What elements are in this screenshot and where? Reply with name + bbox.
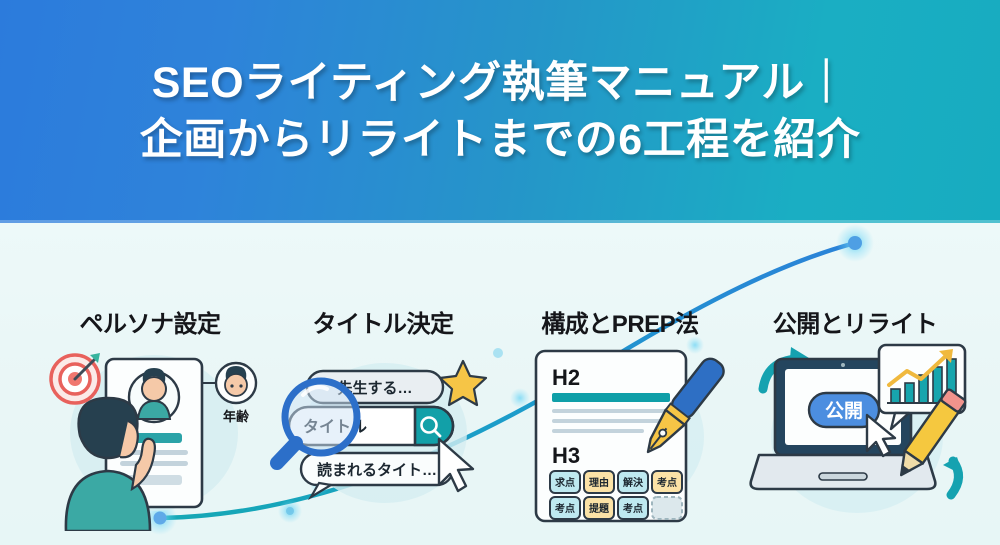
tag-2-4-empty: [652, 497, 682, 519]
step-title[interactable]: タイトル決定 先生する…: [263, 223, 503, 545]
step-structure-label: 構成とPREP法: [500, 304, 740, 339]
step-persona[interactable]: ペルソナ設定: [30, 223, 270, 545]
curved-arrow-bottom-icon: [943, 457, 963, 495]
age-avatar-badge: [216, 363, 256, 403]
step-title-label: タイトル決定: [263, 304, 503, 339]
step-publish-illustration: 公開: [735, 341, 975, 531]
target-icon: [51, 353, 100, 403]
tag-1-4: 考点: [657, 476, 677, 489]
page-title-line-1: SEOライティング執筆マニュアル｜: [152, 58, 849, 109]
tag-1-2: 理由: [589, 476, 609, 489]
tag-2-2: 提題: [589, 502, 610, 515]
heading-h2: H2: [552, 365, 580, 390]
header-band: SEOライティング執筆マニュアル｜ 企画からリライトまでの6工程を紹介: [0, 0, 1000, 223]
infographic-banner: SEOライティング執筆マニュアル｜ 企画からリライトまでの6工程を紹介: [0, 0, 1000, 545]
tag-1-1: 求点: [555, 476, 575, 489]
step-persona-illustration: 年齢: [30, 341, 270, 531]
age-badge-label: 年齢: [223, 409, 250, 424]
tag-2-3: 考点: [623, 502, 643, 515]
publish-button-label: 公開: [825, 400, 863, 422]
step-structure-illustration: H2 H3 求点 理由 解決: [500, 341, 740, 531]
step-structure[interactable]: 構成とPREP法 H2 H3: [500, 223, 740, 545]
tag-1-3: 解決: [623, 476, 644, 489]
heading-h3: H3: [552, 443, 580, 468]
page-title-line-2: 企画からリライトまでの6工程を紹介: [140, 115, 860, 166]
step-publish[interactable]: 公開とリライト: [735, 223, 975, 545]
steps-row: ペルソナ設定: [0, 223, 1000, 545]
step-title-illustration: 先生する… タイトル: [263, 341, 503, 531]
suggestion-bottom-text: 読まれるタイト…: [317, 461, 437, 479]
step-publish-label: 公開とリライト: [735, 304, 975, 339]
tag-2-1: 考点: [555, 502, 575, 515]
step-persona-label: ペルソナ設定: [30, 304, 270, 339]
